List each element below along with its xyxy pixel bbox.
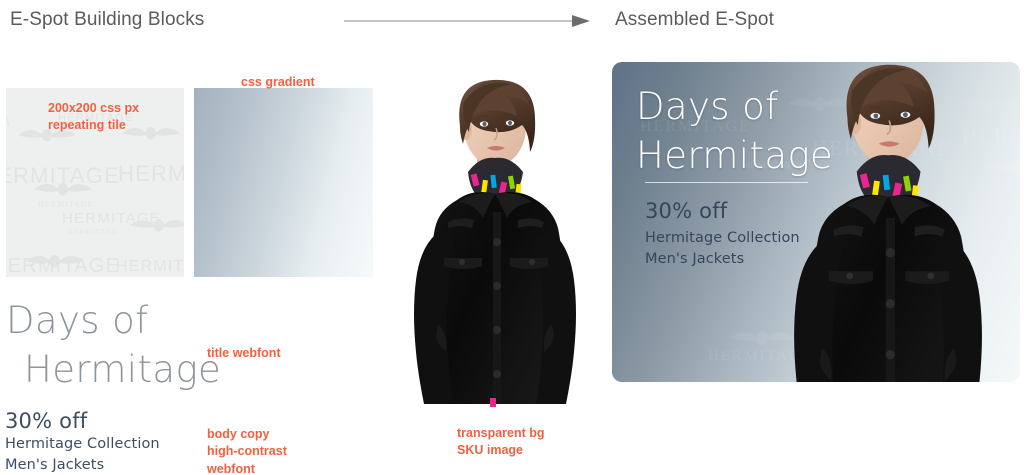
section-heading-assembled-espot: Assembled E-Spot (615, 9, 774, 31)
annotation-title-webfont: title webfont (207, 345, 281, 362)
body-sample-price: 30% off (5, 408, 160, 434)
tile-watermark-word: HERMITAGE (118, 161, 184, 187)
body-sample-line-1: Hermitage Collection (5, 434, 160, 455)
tile-watermark-word: HERMITAGE (62, 210, 161, 227)
annotation-repeating-tile: 200x200 css px repeating tile (48, 100, 139, 135)
tile-watermark-word: HERMITAGE (116, 258, 184, 276)
tile-watermark-subword: HERMITAGE (68, 228, 118, 236)
building-block-title-webfont: Days of Hermitage (6, 296, 206, 394)
annotation-css-gradient: css gradient (241, 74, 315, 91)
building-block-body-webfont: 30% off Hermitage Collection Men's Jacke… (5, 408, 160, 475)
annotation-sku-image: transparent bg SKU image (457, 425, 545, 460)
building-block-sku-image (392, 62, 610, 407)
section-heading-building-blocks: E-Spot Building Blocks (10, 9, 204, 31)
tile-watermark-word: HERMITAGE (6, 163, 120, 189)
espot-title-line-1: Days of (636, 85, 779, 128)
title-sample-line-2: Hermitage (6, 345, 206, 394)
building-block-css-gradient (194, 88, 373, 277)
body-sample-line-2: Men's Jackets (5, 455, 160, 475)
tile-watermark-subword: HERMITAGE (38, 200, 93, 209)
assembled-espot[interactable]: HERMITAGE HERMITAGE HERMITAGE HERMITAGE … (612, 62, 1020, 382)
annotation-body-webfont: body copy high-contrast webfont (207, 426, 287, 475)
title-sample-line-1: Days of (6, 299, 149, 342)
diagram-canvas: E-Spot Building Blocks Assembled E-Spot … (0, 0, 1024, 475)
right-arrow-icon (344, 13, 590, 29)
tile-watermark-word: HERMITAGE (6, 255, 120, 277)
espot-sku-image (764, 62, 1020, 382)
